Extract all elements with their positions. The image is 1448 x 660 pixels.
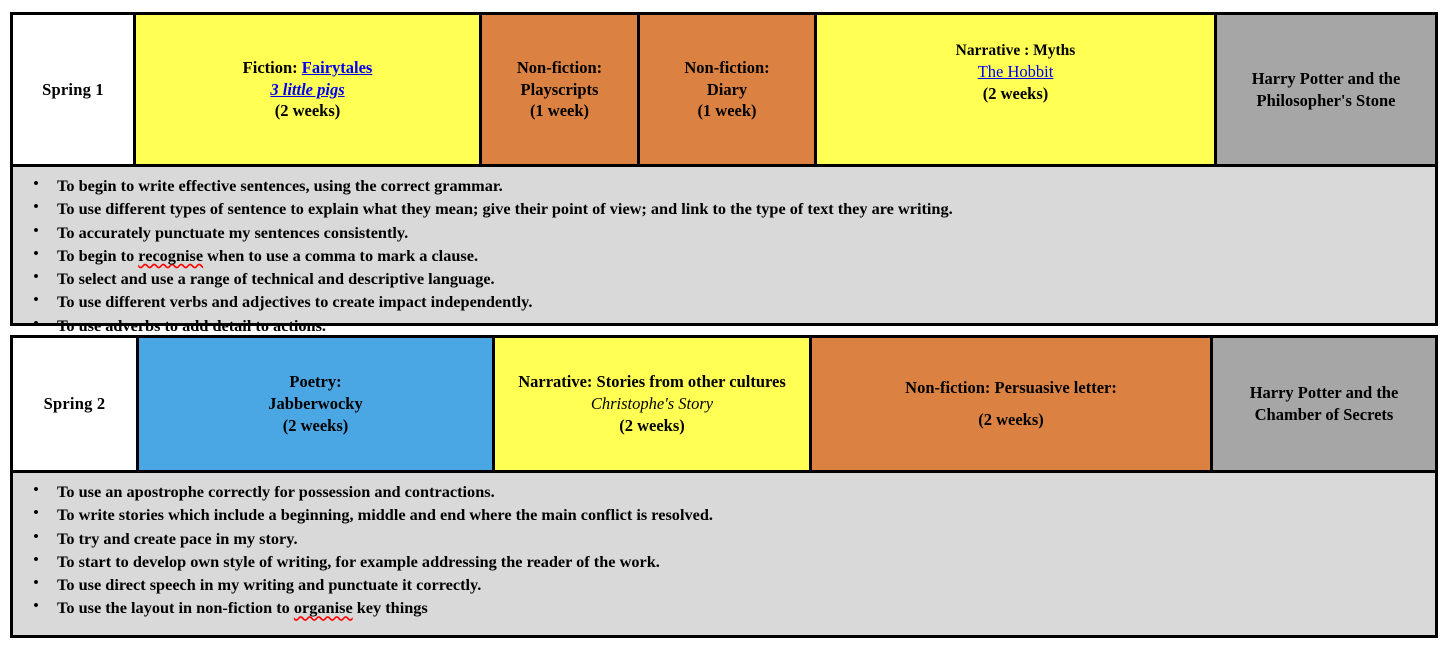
term-label-text: Spring 1 [42, 79, 104, 101]
unit-duration: (2 weeks) [283, 415, 349, 437]
bullet-glyph: • [13, 174, 49, 195]
bullet-glyph: • [13, 244, 49, 265]
unit-topic: Playscripts [521, 79, 599, 101]
bullet-glyph: • [13, 596, 49, 617]
spellcheck-word: recognise [138, 246, 203, 265]
unit-heading: Non-fiction: Persuasive letter: [905, 377, 1117, 399]
objective-text: To use different types of sentence to ex… [49, 197, 953, 220]
unit-cell-nonfiction-persuasive-letter[interactable]: Non-fiction: Persuasive letter: (2 weeks… [812, 338, 1213, 470]
unit-duration: (2 weeks) [275, 100, 341, 122]
unit-duration: (2 weeks) [983, 83, 1049, 105]
objective-text: To start to develop own style of writing… [49, 550, 660, 573]
objective-item: • To begin to recognise when to use a co… [13, 244, 1435, 267]
objective-text: To select and use a range of technical a… [49, 267, 495, 290]
unit-subtitle: 3 little pigs [270, 79, 344, 101]
bullet-glyph: • [13, 527, 49, 548]
class-book-line-2: Philosopher's Stone [1257, 90, 1396, 112]
term-label-spring-2: Spring 2 [13, 338, 139, 470]
class-book-line-1: Harry Potter and the [1250, 382, 1399, 404]
unit-heading: Fiction: Fairytales [243, 57, 373, 79]
objective-text: To use the layout in non-fiction to orga… [49, 596, 428, 619]
objective-text: To use direct speech in my writing and p… [49, 573, 481, 596]
objective-item: • To use the layout in non-fiction to or… [13, 596, 1435, 619]
term-label-text: Spring 2 [44, 393, 106, 415]
unit-heading: Non-fiction: [684, 57, 769, 79]
bullet-glyph: • [13, 550, 49, 571]
objective-item: • To accurately punctuate my sentences c… [13, 221, 1435, 244]
the-hobbit-link[interactable]: The Hobbit [978, 62, 1054, 81]
bullet-glyph: • [13, 480, 49, 501]
unit-heading: Narrative: Stories from other cultures [518, 371, 786, 393]
objective-item: • To use different types of sentence to … [13, 197, 1435, 220]
unit-duration: (1 week) [530, 100, 589, 122]
bullet-glyph: • [13, 573, 49, 594]
objective-item: • To use different verbs and adjectives … [13, 290, 1435, 313]
unit-heading: Poetry: [289, 371, 341, 393]
objective-item: • To start to develop own style of writi… [13, 550, 1435, 573]
curriculum-overview-sheet: Spring 1 Fiction: Fairytales 3 little pi… [10, 12, 1438, 646]
spellcheck-word: organise [294, 598, 353, 617]
objective-text: To use an apostrophe correctly for posse… [49, 480, 495, 503]
unit-cell-nonfiction-diary[interactable]: Non-fiction: Diary (1 week) [640, 15, 817, 164]
unit-cell-narrative-other-cultures[interactable]: Narrative: Stories from other cultures C… [495, 338, 812, 470]
bullet-glyph: • [13, 267, 49, 288]
objective-item: • To use an apostrophe correctly for pos… [13, 480, 1435, 503]
bullet-glyph: • [13, 221, 49, 242]
unit-cell-fiction-fairytales[interactable]: Fiction: Fairytales 3 little pigs (2 wee… [136, 15, 482, 164]
unit-cell-nonfiction-playscripts[interactable]: Non-fiction: Playscripts (1 week) [482, 15, 640, 164]
unit-subtitle: Christophe's Story [591, 393, 713, 415]
objective-text: To begin to write effective sentences, u… [49, 174, 503, 197]
bullet-glyph: • [13, 503, 49, 524]
unit-cell-poetry-jabberwocky[interactable]: Poetry: Jabberwocky (2 weeks) [139, 338, 495, 470]
bullet-glyph: • [13, 314, 49, 335]
class-book-cell-philosophers-stone: Harry Potter and the Philosopher's Stone [1217, 15, 1435, 164]
objective-text: To begin to recognise when to use a comm… [49, 244, 478, 267]
class-book-line-2: Chamber of Secrets [1255, 404, 1394, 426]
objective-text: To use adverbs to add detail to actions. [49, 314, 326, 337]
objective-text: To try and create pace in my story. [49, 527, 298, 550]
unit-duration: (2 weeks) [978, 409, 1044, 431]
unit-subtitle: The Hobbit [978, 61, 1054, 83]
unit-topic: Diary [707, 79, 747, 101]
unit-heading: Non-fiction: [517, 57, 602, 79]
objective-item: • To try and create pace in my story. [13, 527, 1435, 550]
objectives-list-spring-2: • To use an apostrophe correctly for pos… [10, 473, 1438, 638]
unit-heading-text: Fiction: [243, 58, 298, 77]
class-book-line-1: Harry Potter and the [1252, 68, 1401, 90]
objective-item: • To write stories which include a begin… [13, 503, 1435, 526]
unit-duration: (2 weeks) [619, 415, 685, 437]
christophes-story-title: Christophe's Story [591, 394, 713, 413]
unit-heading: Narrative : Myths [956, 41, 1076, 61]
bullet-glyph: • [13, 290, 49, 311]
unit-cell-narrative-myths[interactable]: Narrative : Myths The Hobbit (2 weeks) [817, 15, 1217, 164]
objective-item: • To use direct speech in my writing and… [13, 573, 1435, 596]
three-little-pigs-link[interactable]: 3 little pigs [270, 80, 344, 99]
objective-text: To write stories which include a beginni… [49, 503, 713, 526]
fairytales-link[interactable]: Fairytales [302, 58, 373, 77]
unit-duration: (1 week) [697, 100, 756, 122]
term-row-spring-1: Spring 1 Fiction: Fairytales 3 little pi… [10, 12, 1438, 167]
class-book-cell-chamber-of-secrets: Harry Potter and the Chamber of Secrets [1213, 338, 1435, 470]
objective-item: • To begin to write effective sentences,… [13, 174, 1435, 197]
objective-text: To use different verbs and adjectives to… [49, 290, 532, 313]
term-label-spring-1: Spring 1 [13, 15, 136, 164]
bullet-glyph: • [13, 197, 49, 218]
term-row-spring-2: Spring 2 Poetry: Jabberwocky (2 weeks) N… [10, 335, 1438, 473]
objectives-list-spring-1: • To begin to write effective sentences,… [10, 167, 1438, 326]
unit-topic: Jabberwocky [268, 393, 362, 415]
objective-item: • To select and use a range of technical… [13, 267, 1435, 290]
objective-text: To accurately punctuate my sentences con… [49, 221, 408, 244]
